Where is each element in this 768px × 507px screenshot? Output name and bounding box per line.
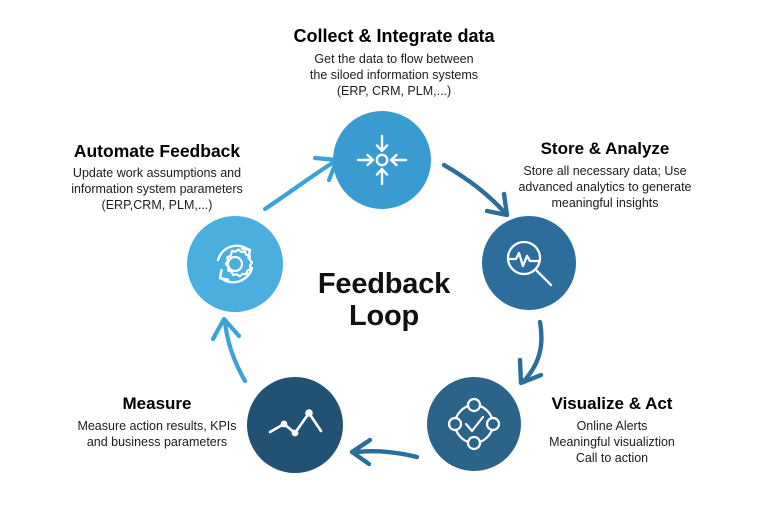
label-measure: Measure Measure action results, KPIs and… [57, 393, 257, 450]
desc-line: information system parameters [55, 181, 259, 197]
gear-refresh-icon [204, 233, 266, 295]
desc-line: and business parameters [57, 434, 257, 450]
center-title-line2: Loop [284, 300, 484, 332]
converge-arrows-icon [352, 130, 412, 190]
center-title-line1: Feedback [284, 268, 484, 300]
label-title-measure: Measure [57, 393, 257, 415]
label-title-collect: Collect & Integrate data [268, 25, 520, 48]
label-title-automate: Automate Feedback [55, 140, 259, 162]
feedback-loop-diagram: Collect & Integrate data Get the data to… [0, 0, 768, 507]
label-desc-visualize: Online Alerts Meaningful visualiztion Ca… [522, 418, 702, 466]
desc-line: Call to action [522, 450, 702, 466]
node-visualize-act[interactable] [427, 377, 521, 471]
label-collect-integrate: Collect & Integrate data Get the data to… [268, 25, 520, 99]
connector-store-to-visualize [520, 322, 541, 383]
node-measure[interactable] [247, 377, 343, 473]
label-desc-automate: Update work assumptions and information … [55, 165, 259, 213]
desc-line: advanced analytics to generate [505, 179, 705, 195]
label-title-store: Store & Analyze [505, 138, 705, 160]
label-desc-collect: Get the data to flow between the siloed … [268, 51, 520, 99]
desc-line: Online Alerts [522, 418, 702, 434]
magnifier-pulse-icon [500, 234, 558, 292]
label-visualize-act: Visualize & Act Online Alerts Meaningful… [522, 393, 702, 466]
desc-line: Get the data to flow between [268, 51, 520, 67]
desc-line: (ERP,CRM, PLM,...) [55, 197, 259, 213]
diagram-center-title: Feedback Loop [284, 268, 484, 333]
node-automate-feedback[interactable] [187, 216, 283, 312]
network-check-icon [445, 395, 503, 453]
label-desc-store: Store all necessary data; Use advanced a… [505, 163, 705, 211]
connector-measure-to-automate [213, 319, 245, 381]
line-chart-icon [264, 394, 326, 456]
label-store-analyze: Store & Analyze Store all necessary data… [505, 138, 705, 211]
desc-line: Store all necessary data; Use [505, 163, 705, 179]
connector-collect-to-store [444, 165, 507, 215]
label-title-visualize: Visualize & Act [522, 393, 702, 415]
connector-visualize-to-measure [352, 440, 417, 464]
desc-line: (ERP, CRM, PLM,...) [268, 83, 520, 99]
label-automate-feedback: Automate Feedback Update work assumption… [55, 140, 259, 213]
desc-line: Meaningful visualiztion [522, 434, 702, 450]
label-desc-measure: Measure action results, KPIs and busines… [57, 418, 257, 450]
node-collect-integrate[interactable] [333, 111, 431, 209]
desc-line: the siloed information systems [268, 67, 520, 83]
desc-line: meaningful insights [505, 195, 705, 211]
node-store-analyze[interactable] [482, 216, 576, 310]
desc-line: Measure action results, KPIs [57, 418, 257, 434]
connector-automate-to-collect [265, 158, 337, 209]
desc-line: Update work assumptions and [55, 165, 259, 181]
